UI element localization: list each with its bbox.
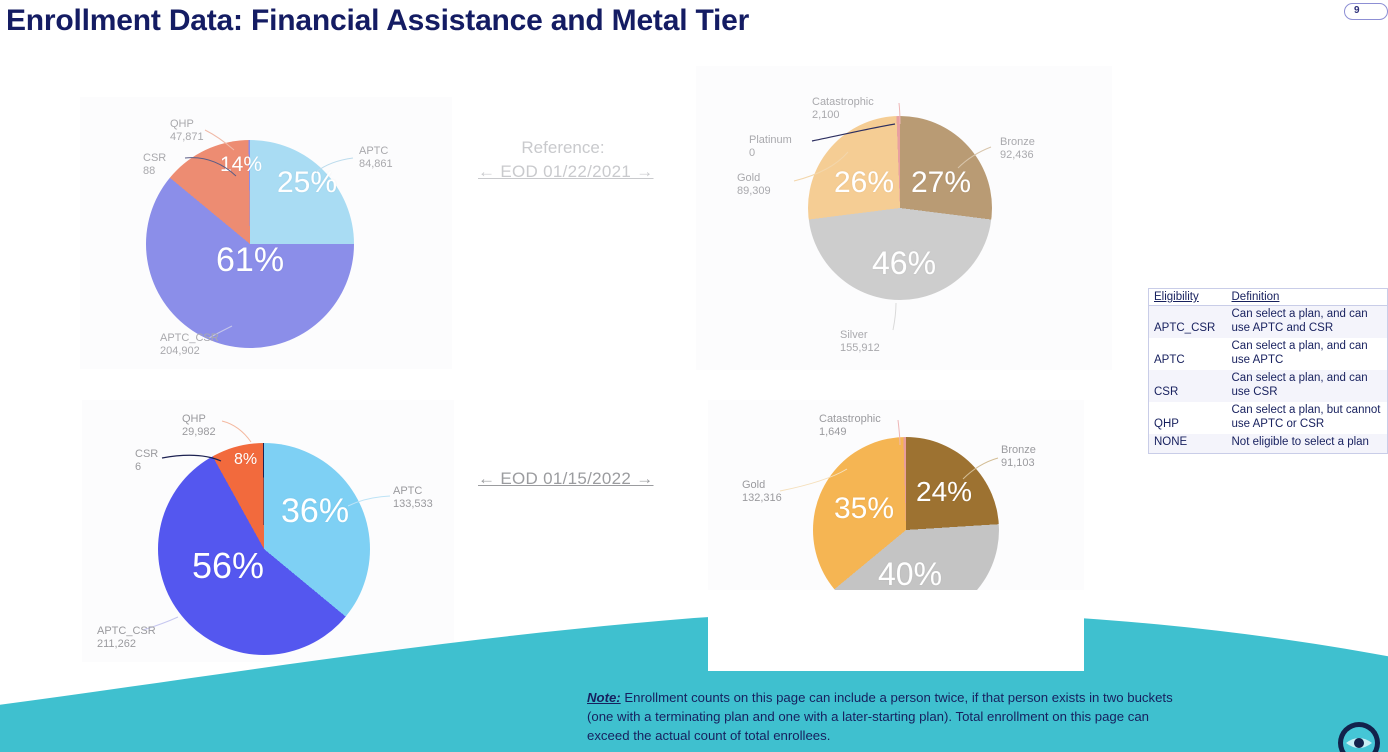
leader-label-gold: Gold 89,309	[737, 172, 771, 197]
reference-bottom: ← EOD 01/15/2022 →	[478, 467, 648, 491]
leader-label-aptc: APTC 84,861	[359, 145, 393, 170]
slide-canvas: Enrollment Data: Financial Assistance an…	[0, 0, 1388, 752]
table-row: NONE Not eligible to select a plan	[1149, 434, 1388, 453]
reference-label: Reference:	[478, 136, 648, 160]
cell-eligibility-definition: Can select a plan, and can use CSR	[1227, 370, 1388, 402]
note-text: Note: Enrollment counts on this page can…	[587, 688, 1187, 745]
reference-top: Reference: ← EOD 01/22/2021 →	[478, 136, 648, 184]
cell-eligibility-key: APTC_CSR	[1149, 306, 1227, 339]
leader-label-catastrophic: Catastrophic 2,100	[812, 96, 874, 121]
cell-eligibility-key: QHP	[1149, 402, 1227, 434]
column-header-definition: Definition	[1227, 289, 1388, 306]
leader-label-platinum: Platinum 0	[749, 134, 792, 159]
cell-eligibility-definition: Not eligible to select a plan	[1227, 434, 1388, 453]
reference-date-nav-bottom[interactable]: ← EOD 01/15/2022 →	[478, 467, 648, 491]
pie-slices-top-left	[146, 140, 354, 348]
leader-label-qhp: QHP 29,982	[182, 413, 216, 438]
note-label: Note:	[587, 690, 621, 705]
leader-label-bronze: Bronze 91,103	[1001, 444, 1036, 469]
cell-eligibility-key: CSR	[1149, 370, 1227, 402]
leader-label-qhp: QHP 47,871	[170, 118, 204, 143]
leader-label-aptc: APTC 133,533	[393, 485, 433, 510]
leader-label-aptc-csr: APTC_CSR 204,902	[160, 332, 219, 357]
table-row: CSR Can select a plan, and can use CSR	[1149, 370, 1388, 402]
table-row: APTC_CSR Can select a plan, and can use …	[1149, 306, 1388, 339]
leader-label-csr: CSR 88	[143, 152, 166, 177]
pie-slices-top-right	[808, 116, 992, 300]
cell-eligibility-definition: Can select a plan, but cannot use APTC o…	[1227, 402, 1388, 434]
page-number-badge: 9	[1344, 3, 1388, 20]
table-row: QHP Can select a plan, but cannot use AP…	[1149, 402, 1388, 434]
cell-eligibility-definition: Can select a plan, and can use APTC and …	[1227, 306, 1388, 339]
reference-date-nav-top[interactable]: ← EOD 01/22/2021 →	[478, 160, 648, 184]
table-header-row: Eligibility Definition	[1149, 289, 1388, 306]
column-header-eligibility: Eligibility	[1149, 289, 1227, 306]
leader-label-silver: Silver 155,912	[840, 329, 880, 354]
leader-label-csr: CSR 6	[135, 448, 158, 473]
page-number-text: 9	[1354, 5, 1360, 16]
leader-label-gold: Gold 132,316	[742, 479, 782, 504]
cell-eligibility-definition: Can select a plan, and can use APTC	[1227, 338, 1388, 370]
pie-chart-top-left: 25% 61% 14% QHP 47,871 CSR 88 APTC 84,86…	[0, 0, 460, 380]
cell-eligibility-key: NONE	[1149, 434, 1227, 453]
note-body: Enrollment counts on this page can inclu…	[587, 690, 1173, 743]
eligibility-definition-table: Eligibility Definition APTC_CSR Can sele…	[1148, 288, 1388, 454]
pie-chart-top-right: 27% 46% 26% Catastrophic 2,100 Platinum …	[696, 0, 1116, 390]
leader-label-bronze: Bronze 92,436	[1000, 136, 1035, 161]
leader-label-catastrophic: Catastrophic 1,649	[819, 413, 881, 438]
organization-logo-icon	[1336, 720, 1382, 752]
cell-eligibility-key: APTC	[1149, 338, 1227, 370]
table-row: APTC Can select a plan, and can use APTC	[1149, 338, 1388, 370]
